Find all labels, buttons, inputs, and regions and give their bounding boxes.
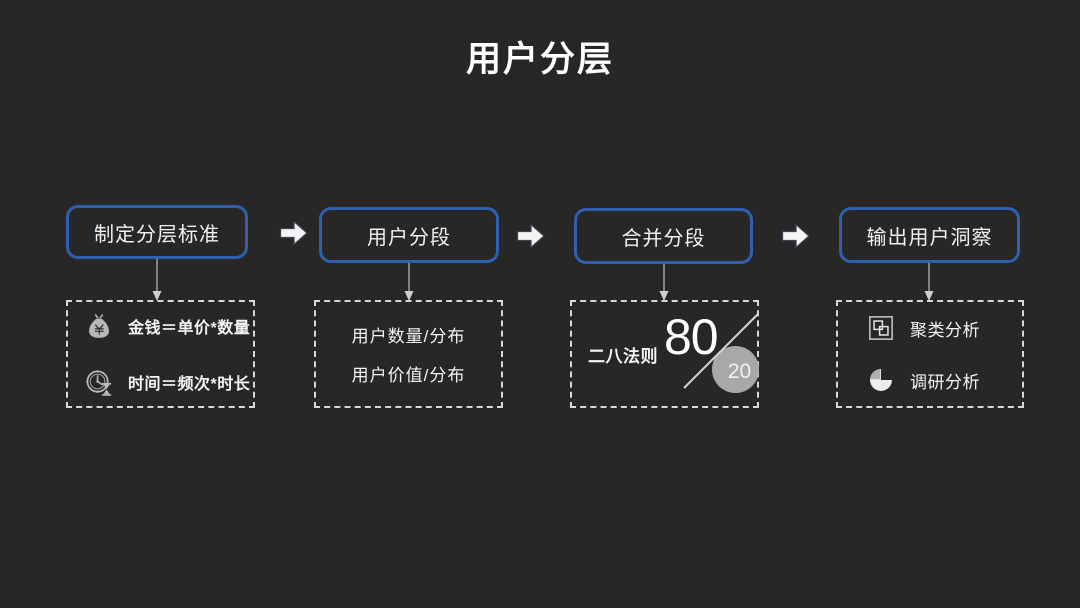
- money-bag-icon: [82, 309, 116, 343]
- slide-canvas: 用户分层 制定分层标准 金钱＝单价*数量: [0, 0, 1080, 608]
- detail-box-4: 聚类分析 调研分析: [836, 300, 1024, 408]
- cluster-analysis-icon: [864, 311, 898, 345]
- detail-text-survey: 调研分析: [910, 368, 980, 393]
- detail-box-1: 金钱＝单价*数量: [66, 300, 255, 408]
- detail-text-cluster: 聚类分析: [910, 316, 980, 341]
- right-arrow-icon-3: [781, 222, 811, 250]
- step-label-4: 输出用户洞察: [867, 221, 993, 250]
- detail-row-survey: 调研分析: [864, 363, 1022, 397]
- step-box-1[interactable]: 制定分层标准: [66, 205, 248, 259]
- right-arrow-icon-2: [516, 222, 546, 250]
- pareto-major-value: 80: [664, 312, 718, 362]
- detail-row-user-value: 用户价值/分布: [352, 361, 466, 386]
- step-label-2: 用户分段: [367, 221, 451, 250]
- step-label-3: 合并分段: [622, 222, 706, 251]
- detail-text-user-value: 用户价值/分布: [352, 361, 466, 386]
- detail-text-user-count: 用户数量/分布: [352, 322, 466, 347]
- detail-row-cluster: 聚类分析: [864, 311, 1022, 345]
- detail-box-3: 二八法则 20 80: [570, 300, 759, 408]
- step-box-2[interactable]: 用户分段: [319, 207, 499, 263]
- detail-row-money: 金钱＝单价*数量: [82, 309, 253, 343]
- step-box-3[interactable]: 合并分段: [574, 208, 753, 264]
- detail-row-time: 时间＝频次*时长: [82, 365, 253, 399]
- detail-box-2: 用户数量/分布 用户价值/分布: [314, 300, 503, 408]
- detail-row-user-count: 用户数量/分布: [352, 322, 466, 347]
- page-title: 用户分层: [0, 38, 1080, 82]
- detail-text-money: 金钱＝单价*数量: [128, 314, 250, 338]
- pareto-label: 二八法则: [588, 342, 658, 367]
- clock-hourglass-icon: [82, 365, 116, 399]
- pareto-graphic: 20 80: [664, 306, 757, 402]
- step-label-1: 制定分层标准: [94, 218, 220, 247]
- right-arrow-icon-1: [279, 219, 309, 247]
- step-box-4[interactable]: 输出用户洞察: [839, 207, 1020, 263]
- detail-text-time: 时间＝频次*时长: [128, 370, 250, 394]
- connector-line-1: [150, 259, 164, 303]
- pie-chart-icon: [864, 363, 898, 397]
